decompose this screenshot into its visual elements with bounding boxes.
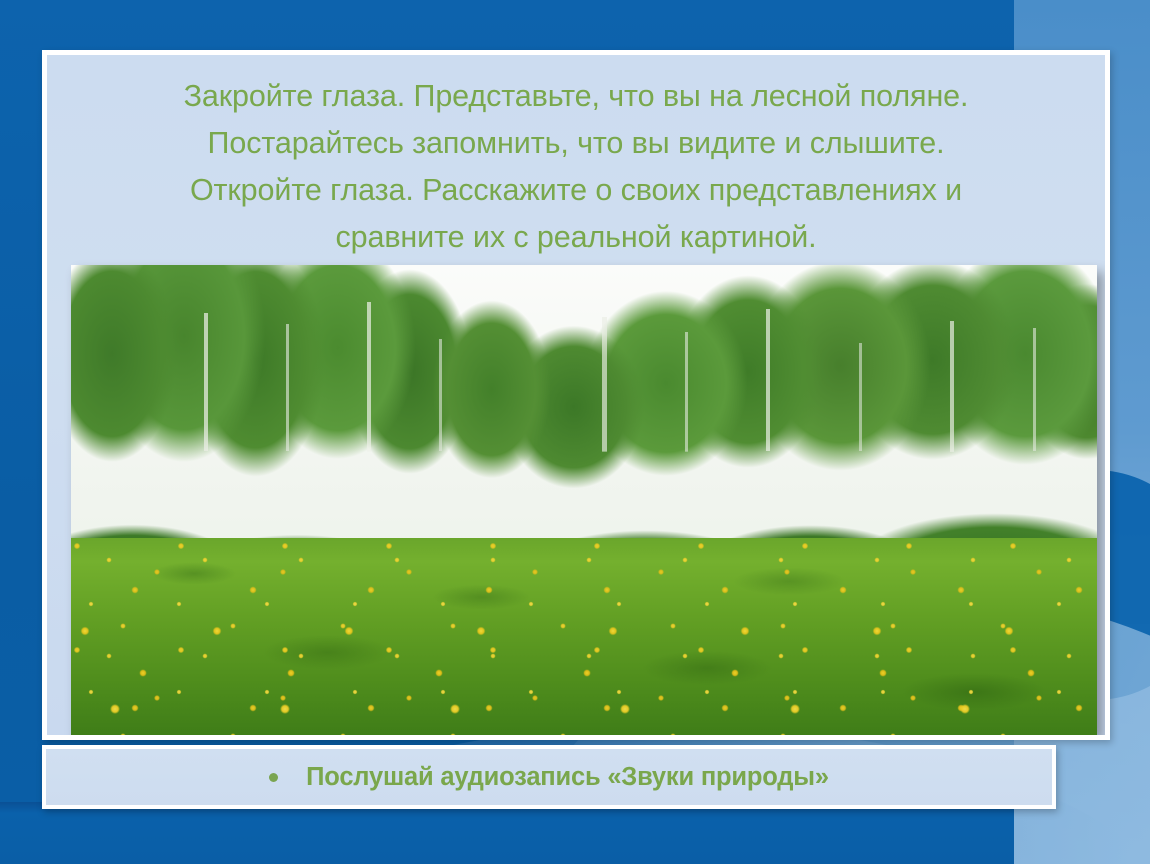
photo-dandelion-flowers-foreground (71, 613, 1097, 735)
content-panel: Закройте глаза. Представьте, что вы на л… (42, 50, 1110, 740)
bullet-panel-inner: Послушай аудиозапись «Звуки природы» (46, 749, 1052, 805)
presentation-slide: Закройте глаза. Представьте, что вы на л… (0, 0, 1150, 864)
content-panel-inner: Закройте глаза. Представьте, что вы на л… (47, 55, 1105, 735)
bullet-dot-icon (269, 773, 278, 782)
bullet-item-label: Послушай аудиозапись «Звуки природы» (306, 763, 829, 792)
background-bottom-bar (0, 802, 1014, 864)
photo-meadow (71, 538, 1097, 735)
bullet-panel: Послушай аудиозапись «Звуки природы» (42, 745, 1056, 809)
forest-meadow-photo (71, 265, 1097, 735)
photo-birch-trunks (71, 265, 1097, 452)
bullet-list-item: Послушай аудиозапись «Звуки природы» (269, 763, 829, 792)
photo-frame (71, 265, 1097, 735)
slide-body-text: Закройте глаза. Представьте, что вы на л… (47, 73, 1105, 261)
